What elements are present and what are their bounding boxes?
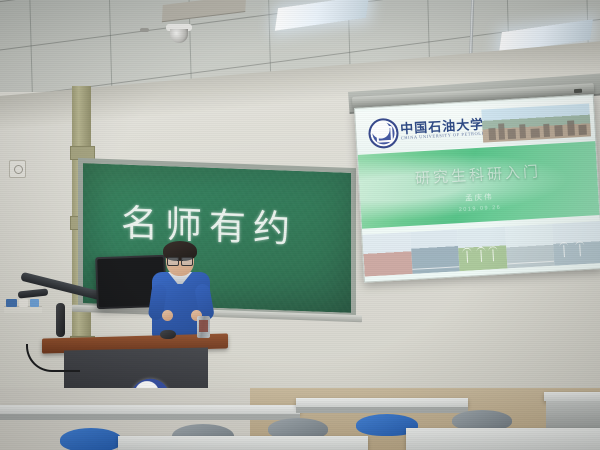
footer-photo-highway: [410, 229, 460, 274]
ceiling-fitting: [140, 28, 149, 32]
chalk-shelf: [4, 306, 42, 313]
footer-photo-road: [505, 224, 555, 269]
chalk-box[interactable]: [19, 299, 28, 307]
student-desk-edge: [546, 401, 600, 431]
university-logo-icon: [368, 118, 400, 150]
student-desk[interactable]: [544, 392, 600, 401]
campus-aerial-photo: [481, 103, 591, 142]
student-desk-edge: [0, 414, 300, 420]
screen-roller-knob[interactable]: [574, 89, 582, 93]
student-desk[interactable]: [0, 405, 300, 414]
classroom-photo: 名师有约 中国石油大学 CHINA UNIVERSITY OF PETROLEU…: [0, 0, 600, 450]
thermos-cup[interactable]: [197, 316, 210, 338]
dome-security-camera-icon: [166, 24, 192, 44]
presenter-hand-left: [162, 310, 173, 321]
slide-footer-photo-strip: [362, 221, 600, 277]
chalk-box[interactable]: [30, 299, 39, 307]
student-desk-front[interactable]: [406, 428, 600, 450]
computer-mouse-icon[interactable]: [160, 330, 176, 339]
footer-photo-coast-turbines: [552, 221, 600, 266]
eyeglasses-icon: [167, 257, 193, 264]
student-desk-edge: [296, 407, 468, 413]
power-outlet[interactable]: [9, 160, 26, 178]
footer-photo-city: [362, 232, 412, 277]
presentation-slide: 中国石油大学 CHINA UNIVERSITY OF PETROLEUM 研究生…: [355, 95, 600, 281]
footer-photo-wind-turbines: [457, 227, 507, 272]
projection-screen: 中国石油大学 CHINA UNIVERSITY OF PETROLEUM 研究生…: [354, 94, 600, 283]
chalk-box[interactable]: [6, 299, 17, 307]
student-desk-front[interactable]: [118, 436, 368, 450]
desk-microphone-icon[interactable]: [56, 303, 65, 337]
student-desk[interactable]: [296, 398, 468, 407]
chair[interactable]: [60, 428, 122, 450]
slide-title-band: 研究生科研入门 孟庆伟 2019.09.26: [358, 141, 600, 229]
